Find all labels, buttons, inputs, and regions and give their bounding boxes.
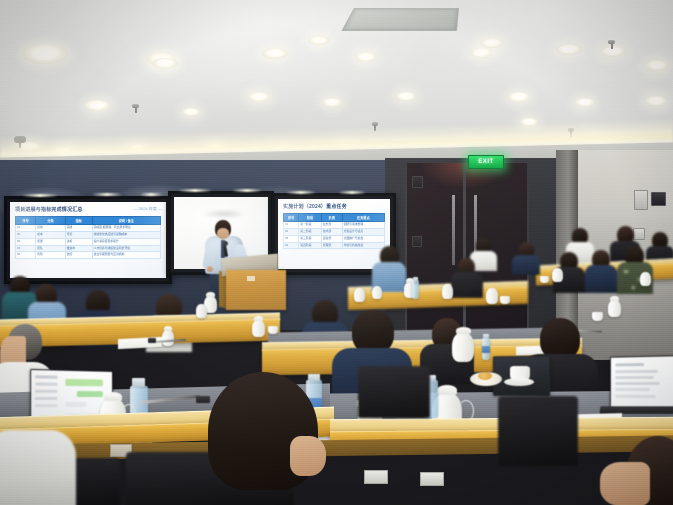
saucer — [504, 378, 534, 386]
downlight-icon — [508, 92, 530, 102]
chair-back — [358, 366, 430, 418]
left-slide-logo: — 2024 年度 — — [134, 206, 162, 212]
col-header: 负责 — [321, 214, 342, 222]
table-row: 03第三阶段运营部全面推广与复盘 — [284, 235, 385, 242]
screen-top-light — [178, 189, 212, 192]
chat-bubble — [65, 402, 86, 407]
chair-back — [498, 396, 578, 466]
sprinkler-icon — [372, 122, 378, 126]
power-outlet[interactable] — [420, 472, 444, 486]
bottle-label — [482, 346, 490, 353]
microphone-base — [148, 338, 156, 343]
screen-top-light — [286, 191, 316, 194]
teapot — [372, 286, 382, 299]
teapot — [196, 304, 207, 318]
table-row: 05风险监控建立早期预警与应对机制 — [16, 252, 161, 259]
screen-top-light — [232, 189, 262, 192]
exit-sign: EXIT — [468, 155, 504, 169]
downlight-icon — [182, 108, 200, 116]
snack — [478, 372, 492, 380]
downlight-icon — [600, 46, 626, 57]
left-slide-table: 序号 分类 指标 说明 / 备注 01营收完成完成度 超预期，同比增长明显 02… — [15, 216, 161, 259]
chat-bubble — [65, 379, 103, 386]
downlight-icon — [22, 44, 68, 64]
document-line — [616, 382, 660, 385]
downlight-icon — [470, 48, 492, 58]
light-switch-panel[interactable] — [634, 190, 648, 210]
teapot — [252, 320, 265, 337]
screen-top-light — [92, 193, 122, 196]
teapot — [452, 332, 474, 362]
right-slide-table: 序号 阶段 负责 任务要点 01第一阶段业务部调研与需求整理 02第二阶段技术部… — [283, 213, 385, 249]
door-center-gap — [463, 163, 466, 348]
microphone-base — [196, 396, 210, 403]
wall-control-panel[interactable] — [633, 228, 645, 240]
teapot-lid — [610, 296, 619, 301]
whiteboard-smudge — [202, 209, 246, 219]
document-line — [616, 395, 656, 398]
downlight-icon — [480, 38, 504, 48]
downlight-icon — [645, 96, 667, 106]
downlight-icon — [248, 92, 270, 102]
document-line — [616, 376, 654, 379]
wall-plate — [412, 236, 422, 247]
downlight-icon — [152, 58, 178, 69]
teapot — [354, 288, 365, 302]
downlight-icon — [396, 92, 416, 101]
bottle-cap — [132, 378, 145, 387]
teapot — [640, 272, 651, 286]
podium — [226, 270, 286, 310]
foreground-torso — [0, 430, 76, 505]
audience-torso — [512, 255, 540, 275]
right-slide: 实施计划（2024）重点任务 序号 阶段 负责 任务要点 01第一阶段业务部调研… — [278, 199, 390, 269]
teapot-lid — [254, 316, 263, 321]
table-row: 01营收完成完成度 超预期，同比增长明显 — [16, 225, 161, 232]
table-row: 04第四阶段管理部考核与持续改进 — [284, 242, 385, 249]
col-header: 说明 / 备注 — [92, 217, 160, 225]
laptop-screen[interactable] — [610, 355, 673, 411]
left-display-surface: 项目进展与指标完成情况汇总 — 2024 年度 — 序号 分类 指标 说明 / … — [10, 202, 166, 278]
col-header: 指标 — [65, 217, 92, 225]
teapot-lid — [104, 392, 122, 401]
downlight-icon — [556, 44, 582, 55]
downlight-icon — [84, 100, 110, 111]
chat-bubble — [77, 391, 103, 397]
screen-top-light — [140, 193, 162, 196]
bottle-cap — [308, 374, 320, 381]
downlight-icon — [308, 36, 330, 45]
left-display[interactable]: 项目进展与指标完成情况汇总 — 2024 年度 — 序号 分类 指标 说明 / … — [4, 196, 172, 284]
foreground-hand — [600, 462, 650, 505]
col-header: 分类 — [36, 217, 66, 225]
sprinkler-icon — [132, 104, 139, 108]
table-row: 03质量达标客户满意度稳步提升 — [16, 238, 161, 245]
foreground-ear-and-neck — [290, 436, 326, 476]
water-bottle — [412, 280, 419, 299]
sprinkler-icon — [608, 40, 615, 44]
chat-sidebar-item — [35, 390, 57, 393]
audience-torso — [451, 272, 483, 298]
teacup — [500, 296, 510, 304]
col-header: 阶段 — [299, 214, 322, 222]
col-header: 序号 — [16, 217, 36, 225]
downlight-icon — [355, 52, 377, 62]
downlight-icon — [262, 48, 288, 59]
left-slide: 项目进展与指标完成情况汇总 — 2024 年度 — 序号 分类 指标 说明 / … — [10, 202, 166, 278]
photo-scene: EXIT 项目进展与指标完成情况汇总 — 2024 年度 — 序号 分类 指标 … — [0, 0, 673, 505]
teapot-lid — [456, 327, 471, 334]
teapot-lid — [437, 385, 457, 395]
presenter-left-hand — [207, 266, 213, 272]
right-slide-title: 实施计划（2024）重点任务 — [283, 203, 385, 210]
teapot — [486, 288, 498, 304]
table-row: 04团队推进中人才培养与组织建设同步开展 — [16, 245, 161, 252]
screen-top-light — [338, 191, 366, 194]
downlight-icon — [322, 98, 342, 107]
exit-sign-label: EXIT — [478, 159, 493, 165]
table-row: 01第一阶段业务部调研与需求整理 — [284, 222, 385, 229]
table-row: 02第二阶段技术部方案设计与试点 — [284, 229, 385, 236]
teapot-lid — [164, 326, 172, 331]
teacup — [540, 276, 549, 283]
ceiling-vent-icon — [341, 8, 459, 31]
wall-plate — [412, 176, 423, 188]
teapot — [608, 300, 621, 317]
downlight-icon — [645, 60, 669, 71]
bottle-cap — [483, 334, 489, 338]
table-row: 02成本可控持续优化供应链与采购成本 — [16, 232, 161, 239]
presenter-face — [217, 228, 229, 239]
chat-sidebar-item — [35, 404, 57, 407]
podium-nameplate — [247, 276, 255, 281]
col-header: 任务要点 — [342, 214, 384, 222]
document-line — [616, 363, 644, 366]
chat-sidebar-item — [35, 375, 57, 378]
audience-torso — [585, 265, 617, 293]
teapot — [552, 268, 563, 282]
teacup — [268, 326, 278, 334]
downlight-icon — [575, 98, 595, 107]
teapot-lid — [206, 292, 215, 297]
teacup — [592, 312, 603, 321]
door-handle-icon[interactable] — [452, 195, 455, 265]
microphone-head-icon — [223, 241, 228, 246]
power-outlet[interactable] — [364, 470, 388, 484]
chat-sidebar-item — [35, 397, 57, 400]
document-line — [616, 388, 650, 391]
wall-socket-panel[interactable] — [651, 192, 666, 206]
chat-sidebar-item — [35, 382, 57, 385]
teapot — [442, 284, 453, 299]
teapot — [162, 330, 174, 346]
col-header: 序号 — [284, 214, 299, 222]
right-display-surface: 实施计划（2024）重点任务 序号 阶段 负责 任务要点 01第一阶段业务部调研… — [278, 199, 390, 269]
bottle-cap — [413, 277, 418, 281]
document-line — [616, 370, 658, 373]
screen-top-light — [22, 194, 58, 197]
